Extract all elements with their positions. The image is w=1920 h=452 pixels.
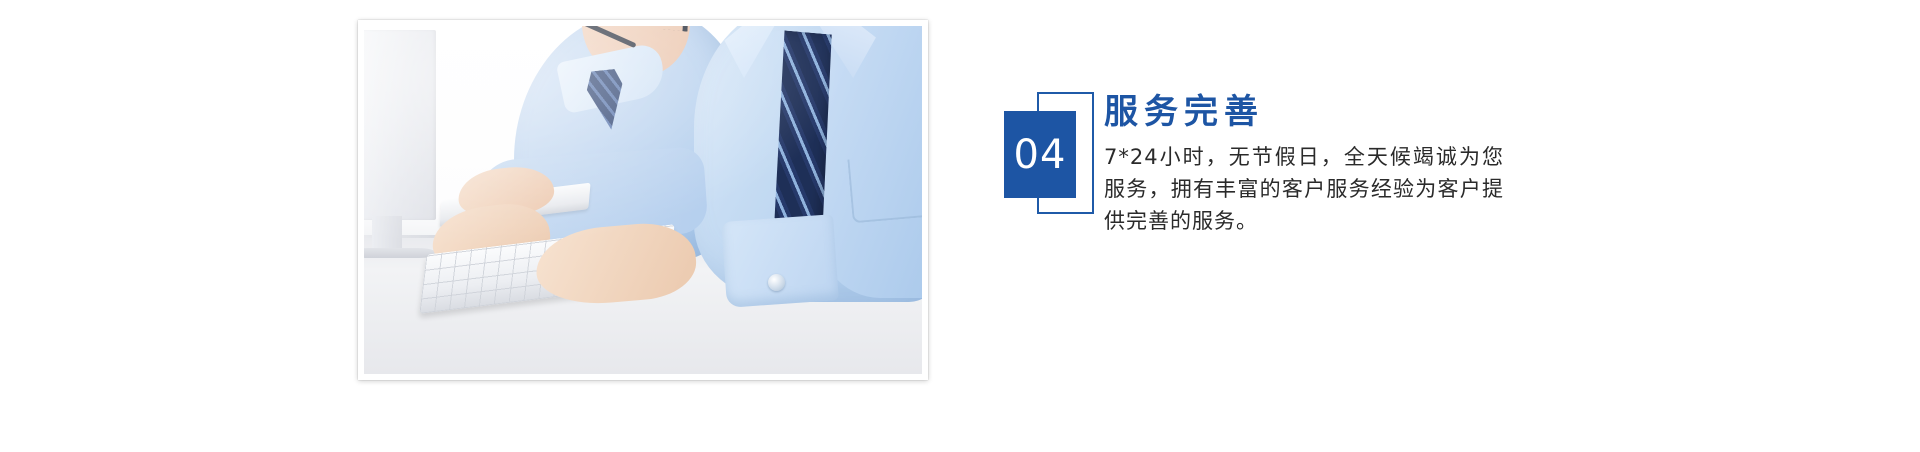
feature-photo-card [358,20,928,380]
monitor-stand-neck [372,216,402,250]
shirt-pocket [847,153,922,224]
page-root: 04 服务完善 7*24小时，无节假日，全天候竭诚为您服务，拥有丰富的客户服务经… [0,0,1920,452]
photo-scene [364,26,922,374]
feature-badge: 04 [1004,92,1104,218]
feature-title: 服务完善 [1104,92,1524,132]
badge-square: 04 [1004,111,1076,198]
cuff-button-icon [768,274,785,291]
feature-description: 7*24小时，无节假日，全天候竭诚为您服务，拥有丰富的客户服务经验为客户提供完善… [1104,142,1504,238]
monitor-icon [364,30,436,220]
feature-text-block: 服务完善 7*24小时，无节假日，全天候竭诚为您服务，拥有丰富的客户服务经验为客… [1104,92,1524,238]
badge-number: 04 [1014,135,1067,175]
shirt-cuff [721,214,839,308]
feature-photo [364,26,922,374]
monitor-stand-base [364,248,436,258]
